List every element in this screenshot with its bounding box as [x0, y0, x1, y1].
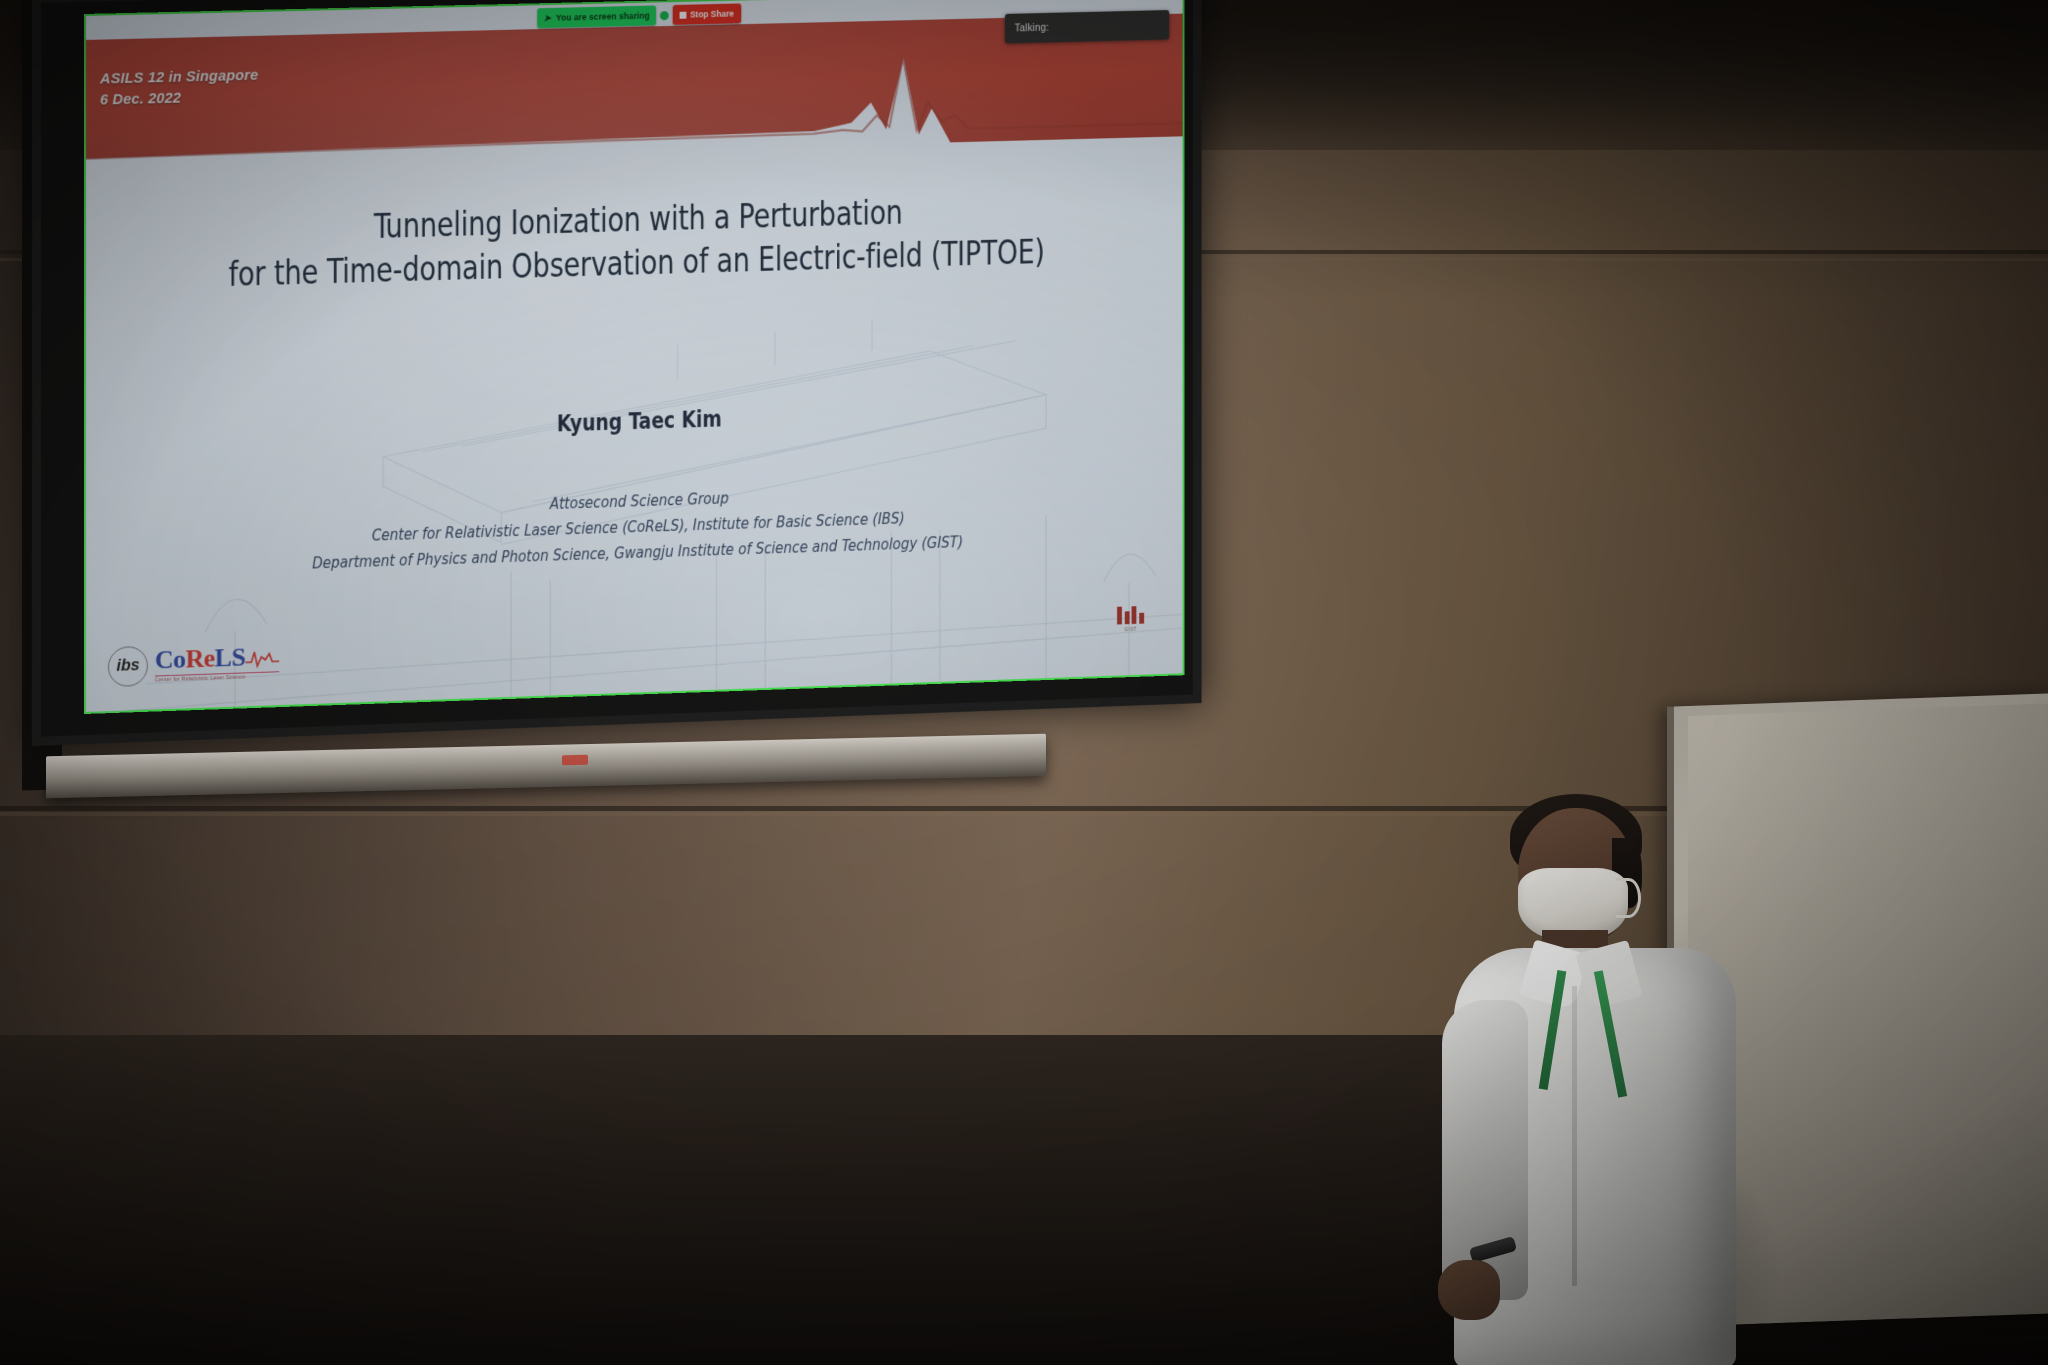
slide-header-meta: ASILS 12 in Singapore 6 Dec. 2022	[100, 66, 258, 112]
talking-label: Talking:	[1015, 22, 1049, 34]
corels-ls: LS	[215, 643, 246, 673]
shirt-placket	[1572, 986, 1577, 1286]
stop-share-button[interactable]: Stop Share	[672, 3, 740, 24]
logo-group-left: ibs CoReLS Center for Relativistic Laser…	[108, 639, 287, 689]
slide-affiliations: Attosecond Science Group Center for Rela…	[86, 471, 1183, 584]
gist-logo: GIST	[1104, 605, 1158, 658]
screen-rail-indicator	[562, 755, 588, 766]
toolbar-divider-dot	[660, 11, 669, 20]
talking-indicator-chip: Talking:	[1005, 10, 1169, 43]
slide-author: Kyung Taec Kim	[86, 393, 1183, 452]
slide-content: Tunneling Ionization with a Perturbation…	[86, 137, 1183, 714]
stop-share-label: Stop Share	[690, 9, 734, 20]
gist-logo-label: GIST	[1124, 627, 1136, 633]
corels-co: Co	[155, 645, 186, 675]
event-name: ASILS 12 in Singapore	[100, 66, 258, 91]
screen-sharing-status-label: You are screen sharing	[556, 11, 650, 23]
corels-pulse-icon	[245, 647, 279, 668]
presentation-slide: ➤ You are screen sharing Stop Share Talk…	[84, 0, 1185, 714]
screen-sharing-status-pill: ➤ You are screen sharing	[538, 5, 656, 28]
author-name: Kyung Taec Kim	[131, 394, 1140, 451]
share-arrow-icon: ➤	[544, 12, 551, 23]
presenter	[1430, 790, 1760, 1365]
lecture-hall-photo: ➤ You are screen sharing Stop Share Talk…	[0, 0, 2048, 1365]
corels-logo: CoReLS Center for Relativistic Laser Sci…	[155, 643, 279, 683]
face-mask-ear-loop	[1616, 878, 1641, 918]
gist-bars-icon	[1117, 606, 1144, 625]
slide-title: Tunneling Ionization with a Perturbation…	[86, 184, 1183, 301]
event-date: 6 Dec. 2022	[100, 87, 258, 112]
projected-slide-surface: ➤ You are screen sharing Stop Share Talk…	[84, 0, 1185, 714]
corels-re: Re	[186, 644, 215, 674]
ibs-logo-text: ibs	[116, 657, 139, 676]
stop-square-icon	[679, 11, 686, 18]
corels-wordmark: CoReLS	[155, 643, 279, 673]
projection-screen: ➤ You are screen sharing Stop Share Talk…	[22, 0, 1237, 800]
ibs-logo-icon: ibs	[108, 646, 148, 687]
screen-bottom-rail	[46, 734, 1046, 799]
presenter-hand	[1438, 1260, 1500, 1320]
